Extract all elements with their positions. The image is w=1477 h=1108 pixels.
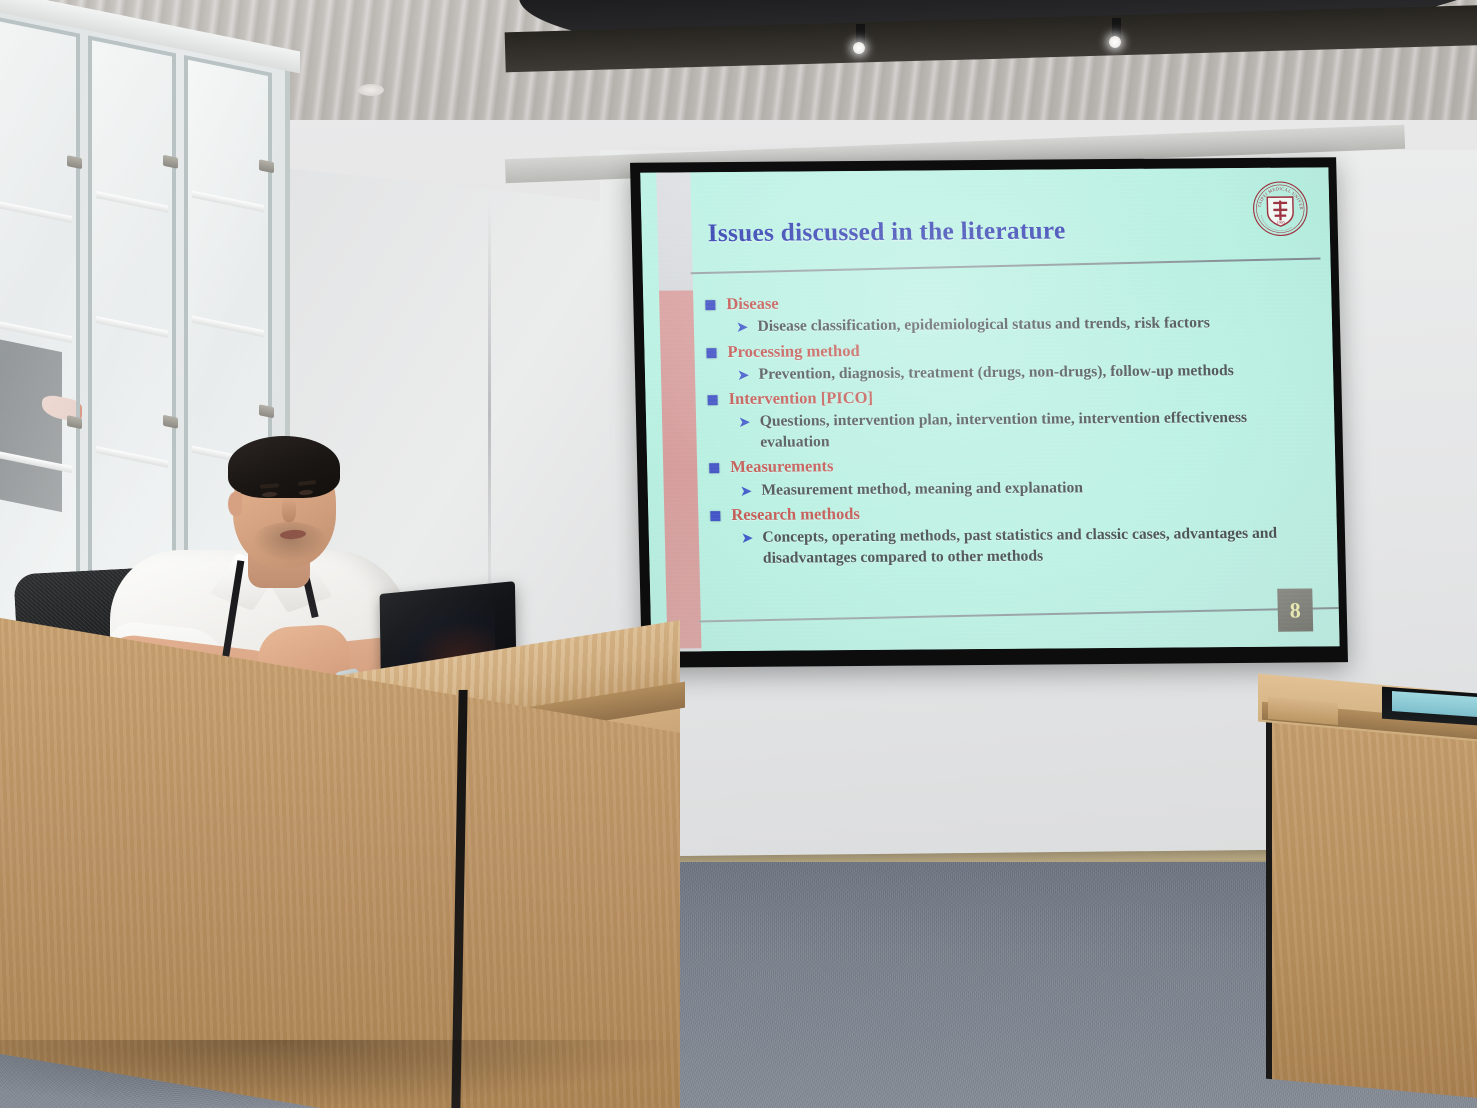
square-bullet-icon bbox=[709, 464, 719, 474]
sub-bullet-item: ➤ Concepts, operating methods, past stat… bbox=[741, 523, 1320, 570]
slide-body: Disease ➤ Disease classification, epidem… bbox=[705, 285, 1320, 572]
room-scene: 1960 TAIPEI MEDICAL UNIVERSITY ~~~~~~~~~… bbox=[0, 0, 1477, 1108]
university-seal-icon: 1960 TAIPEI MEDICAL UNIVERSITY ~~~~~~~~~… bbox=[1251, 180, 1310, 238]
bullet-heading: Measurements bbox=[730, 456, 834, 479]
footer-divider bbox=[699, 607, 1339, 622]
slide-accent-stripe bbox=[659, 290, 701, 650]
square-bullet-icon bbox=[708, 395, 718, 405]
bullet-item: Research methods bbox=[710, 499, 1319, 526]
sub-bullet-item: ➤ Questions, intervention plan, interven… bbox=[738, 407, 1317, 454]
desk-shadow bbox=[0, 1040, 700, 1108]
bullet-heading: Research methods bbox=[731, 503, 860, 526]
cabinet-hinge bbox=[163, 155, 178, 169]
cabinet-hinge bbox=[163, 415, 178, 429]
sub-bullet-text: Measurement method, meaning and explanat… bbox=[761, 477, 1083, 501]
projection-screen: 1960 TAIPEI MEDICAL UNIVERSITY ~~~~~~~~~… bbox=[630, 157, 1348, 667]
spotlight-icon bbox=[853, 42, 865, 54]
nose bbox=[282, 498, 296, 522]
sub-bullet-text: Questions, intervention plan, interventi… bbox=[759, 407, 1290, 453]
cabinet-hinge bbox=[259, 159, 274, 173]
ear bbox=[228, 492, 242, 516]
square-bullet-icon bbox=[705, 300, 715, 310]
slide-left-stripe-top bbox=[656, 172, 693, 292]
bullet-heading: Intervention [PICO] bbox=[728, 387, 873, 410]
square-bullet-icon bbox=[706, 348, 716, 358]
chevron-right-icon: ➤ bbox=[736, 317, 749, 337]
chevron-right-icon: ➤ bbox=[741, 528, 754, 548]
slide-title: Issues discussed in the literature bbox=[707, 215, 1065, 248]
sub-bullet-item: ➤ Measurement method, meaning and explan… bbox=[740, 475, 1319, 501]
cabinet-door[interactable] bbox=[0, 16, 80, 658]
hair bbox=[228, 436, 340, 498]
wall-panel-seam bbox=[488, 200, 491, 630]
spotlight-icon bbox=[1109, 36, 1121, 48]
chevron-right-icon: ➤ bbox=[737, 365, 750, 385]
bullet-item: Intervention [PICO] bbox=[707, 383, 1316, 410]
slide-page-number: 8 bbox=[1277, 588, 1313, 631]
cabinet-hinge bbox=[67, 415, 82, 429]
sub-bullet-item: ➤ Disease classification, epidemiologica… bbox=[736, 312, 1315, 338]
sub-bullet-text: Prevention, diagnosis, treatment (drugs,… bbox=[758, 360, 1234, 385]
desk-right bbox=[1266, 679, 1477, 1102]
beard-shadow bbox=[252, 522, 328, 562]
cabinet-hinge bbox=[67, 155, 82, 169]
title-divider bbox=[691, 257, 1321, 274]
recessed-downlight bbox=[358, 84, 384, 96]
sub-bullet-text: Concepts, operating methods, past statis… bbox=[762, 523, 1293, 569]
sub-bullet-text: Disease classification, epidemiological … bbox=[757, 313, 1210, 338]
chevron-right-icon: ➤ bbox=[740, 481, 753, 501]
chevron-right-icon: ➤ bbox=[738, 412, 751, 432]
square-bullet-icon bbox=[710, 511, 720, 521]
cabinet-hinge bbox=[259, 404, 274, 418]
presentation-slide: 1960 TAIPEI MEDICAL UNIVERSITY ~~~~~~~~~… bbox=[640, 167, 1339, 651]
bullet-heading: Processing method bbox=[727, 340, 860, 363]
svg-text:1960: 1960 bbox=[1276, 220, 1284, 225]
bullet-heading: Disease bbox=[726, 293, 779, 316]
sub-bullet-item: ➤ Prevention, diagnosis, treatment (drug… bbox=[737, 359, 1316, 385]
